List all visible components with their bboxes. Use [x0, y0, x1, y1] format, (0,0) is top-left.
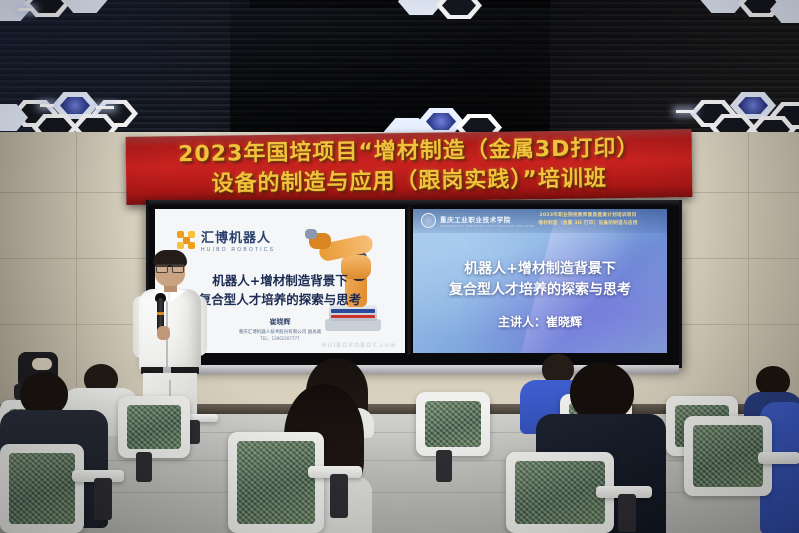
huibo-logo-en: HUIBO ROBOTICS	[201, 247, 275, 253]
huibo-logo-cn: 汇博机器人	[201, 227, 275, 246]
right-slide-speaker: 主讲人：崔晓辉	[421, 313, 659, 330]
right-slide-title-line-2: 复合型人才培养的探索与思考	[421, 280, 659, 301]
right-slide-header-line-2: 增材制造（金属 3D 打印）设备的制造与应用	[513, 220, 663, 226]
chair-front	[228, 432, 324, 533]
event-banner: 2023年国培项目“增材制造（金属3D打印） 设备的制造与应用（跟岗实践）”培训…	[126, 129, 693, 205]
right-slide-header-text: 2023年职业院校教师素质提高计划培训项目 增材制造（金属 3D 打印）设备的制…	[513, 212, 663, 226]
chair	[416, 392, 490, 456]
ceiling	[0, 0, 799, 140]
left-slide-watermark: HUIBOROBOT.com	[322, 343, 397, 349]
display-wall: 汇博机器人 HUIBO ROBOTICS 机器人+增材制造背景下 复合型人才培养…	[146, 200, 682, 368]
lecture-hall-photo: 2023年国培项目“增材制造（金属3D打印） 设备的制造与应用（跟岗实践）”培训…	[0, 0, 799, 533]
chair-post	[436, 450, 452, 482]
chair-post	[136, 452, 152, 482]
right-screen[interactable]: 重庆工业职业技术学院 CHONGQING INDUSTRY POLYTECHNI…	[413, 209, 667, 353]
chair-post	[94, 478, 112, 520]
chair-front	[0, 444, 84, 533]
huibo-logo: 汇博机器人 HUIBO ROBOTICS	[177, 227, 275, 253]
chair	[118, 396, 190, 458]
glasses-icon	[156, 264, 184, 271]
banner-line-2: 设备的制造与应用（跟岗实践）”培训班	[211, 164, 607, 200]
ceiling-shadow	[230, 0, 550, 140]
presenter-shirt	[139, 289, 201, 371]
huibo-logo-mark	[177, 231, 195, 249]
display-center-bezel	[405, 207, 413, 355]
college-emblem-icon	[421, 213, 436, 228]
right-slide-title-line-1: 机器人+增材制造背景下	[421, 259, 659, 280]
chair-post	[330, 474, 348, 518]
left-slide-title-line-1: 机器人+增材制造背景下	[173, 271, 387, 290]
chair-post	[618, 494, 636, 532]
right-slide-header-line-1: 2023年职业院校教师素质提高计划培训项目	[513, 212, 663, 218]
presenter-hand	[157, 326, 170, 340]
display-top-bezel	[149, 200, 679, 207]
chair-tablet-arm	[758, 452, 799, 464]
right-slide-title: 机器人+增材制造背景下 复合型人才培养的探索与思考	[421, 259, 659, 301]
presenter	[133, 252, 205, 420]
